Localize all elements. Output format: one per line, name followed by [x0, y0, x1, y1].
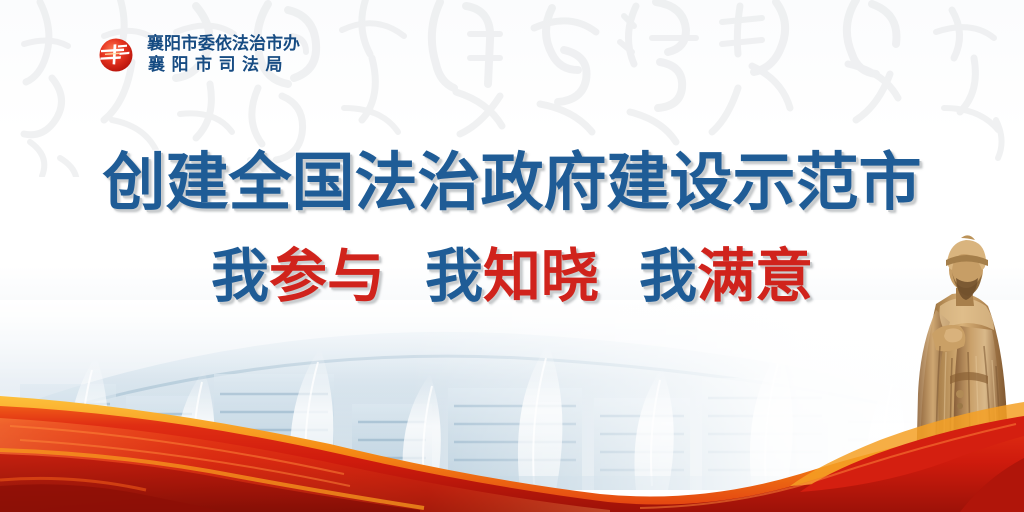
emblem-icon [94, 33, 138, 77]
headline-seg-2: 参与 [269, 242, 385, 310]
org-line-2: 襄阳市司法局 [147, 55, 300, 76]
organization-name: 襄阳市委依法治市办 襄阳市司法局 [147, 34, 300, 76]
org-line-1: 襄阳市委依法治市办 [147, 34, 300, 55]
poster-canvas: 襄阳市委依法治市办 襄阳市司法局 创建全国法治政府建设示范市 我参与我知晓我满意 [0, 0, 1024, 512]
headline-primary: 创建全国法治政府建设示范市 [0, 148, 1024, 218]
organization-logo: 襄阳市委依法治市办 襄阳市司法局 [94, 33, 300, 77]
headline-seg-3: 我 [425, 242, 483, 310]
headline-seg-6: 满意 [697, 242, 813, 310]
headline-seg-1: 我 [211, 242, 269, 310]
headline-seg-5: 我 [639, 242, 697, 310]
headline-seg-4: 知晓 [483, 242, 599, 310]
headline-secondary: 我参与我知晓我满意 [0, 243, 1024, 309]
